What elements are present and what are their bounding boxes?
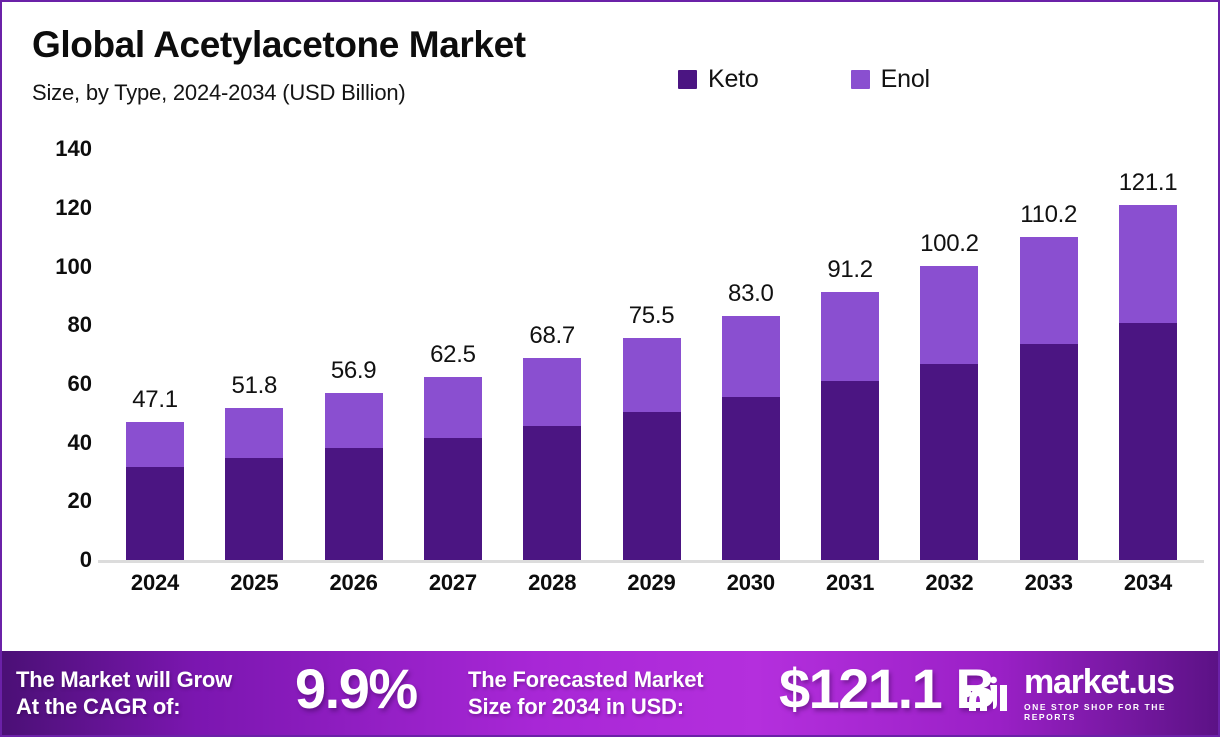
footer-banner: The Market will Grow At the CAGR of: 9.9… — [2, 651, 1218, 735]
bar-segment-enol[interactable] — [126, 422, 184, 467]
bar-segment-keto[interactable] — [722, 397, 780, 560]
page-title: Global Acetylacetone Market — [32, 24, 526, 66]
bar-segment-keto[interactable] — [325, 448, 383, 560]
bar-stack[interactable] — [1119, 205, 1177, 560]
brand-tagline: ONE STOP SHOP FOR THE REPORTS — [1024, 702, 1218, 722]
bar-segment-enol[interactable] — [722, 316, 780, 397]
bar-stack[interactable] — [424, 377, 482, 560]
x-axis-label-2029: 2029 — [623, 570, 681, 596]
bar-stack[interactable] — [722, 316, 780, 560]
x-axis-label-2028: 2028 — [523, 570, 581, 596]
bar-stack[interactable] — [325, 393, 383, 560]
forecast-caption-line1: The Forecasted Market — [468, 667, 703, 692]
bar-segment-keto[interactable] — [1020, 344, 1078, 560]
bar-stack[interactable] — [821, 292, 879, 560]
x-axis-label-2034: 2034 — [1119, 570, 1177, 596]
legend-item-keto[interactable]: Keto — [678, 65, 759, 94]
bar-stack[interactable] — [920, 266, 978, 560]
bar-segment-enol[interactable] — [225, 408, 283, 458]
bar-segment-enol[interactable] — [523, 358, 581, 426]
bar-segment-enol[interactable] — [920, 266, 978, 364]
y-axis-tick-140: 140 — [24, 136, 92, 162]
bar-value-label: 121.1 — [1119, 169, 1178, 197]
bar-value-label: 51.8 — [232, 372, 278, 400]
bar-stack[interactable] — [126, 422, 184, 560]
bar-stack[interactable] — [1020, 237, 1078, 560]
bar-segment-enol[interactable] — [1119, 205, 1177, 324]
bar-value-label: 91.2 — [827, 256, 873, 284]
bar-stack[interactable] — [523, 358, 581, 560]
y-axis-tick-20: 20 — [24, 488, 92, 514]
x-axis-label-2025: 2025 — [225, 570, 283, 596]
bar-value-label: 100.2 — [920, 230, 979, 258]
x-axis-label-2032: 2032 — [920, 570, 978, 596]
y-axis-tick-0: 0 — [24, 547, 92, 573]
cagr-caption-line2: At the CAGR of: — [16, 694, 180, 719]
legend-swatch-keto — [678, 70, 697, 89]
brand-text: market.us ONE STOP SHOP FOR THE REPORTS — [1024, 665, 1218, 722]
y-axis: 020406080100120140 — [20, 122, 92, 627]
bar-segment-keto[interactable] — [126, 467, 184, 560]
bar-value-label: 68.7 — [529, 322, 575, 350]
cagr-caption: The Market will Grow At the CAGR of: — [16, 666, 232, 720]
brand-name: market.us — [1024, 665, 1218, 699]
brand-logo[interactable]: market.us ONE STOP SHOP FOR THE REPORTS — [959, 665, 1218, 722]
bar-segment-enol[interactable] — [1020, 237, 1078, 345]
page-subtitle: Size, by Type, 2024-2034 (USD Billion) — [32, 80, 406, 106]
cagr-value: 9.9% — [295, 656, 417, 721]
legend-label-enol: Enol — [881, 65, 930, 94]
y-axis-tick-120: 120 — [24, 195, 92, 221]
bar-segment-keto[interactable] — [623, 412, 681, 560]
bar-segment-enol[interactable] — [821, 292, 879, 380]
bar-value-label: 83.0 — [728, 280, 774, 308]
bar-value-label: 56.9 — [331, 357, 377, 385]
bar-segment-keto[interactable] — [523, 426, 581, 560]
y-axis-tick-60: 60 — [24, 371, 92, 397]
forecast-caption-line2: Size for 2034 in USD: — [468, 694, 684, 719]
bar-segment-enol[interactable] — [424, 377, 482, 438]
y-axis-tick-80: 80 — [24, 312, 92, 338]
bar-value-label: 47.1 — [132, 386, 178, 414]
y-axis-tick-100: 100 — [24, 254, 92, 280]
bar-segment-keto[interactable] — [1119, 323, 1177, 560]
x-axis-label-2026: 2026 — [325, 570, 383, 596]
bar-stack[interactable] — [623, 338, 681, 560]
bar-segment-enol[interactable] — [623, 338, 681, 412]
bar-segment-keto[interactable] — [821, 381, 879, 560]
market-us-logo-icon — [959, 673, 1015, 715]
bar-value-label: 62.5 — [430, 341, 476, 369]
legend-item-enol[interactable]: Enol — [851, 65, 930, 94]
x-axis-label-2031: 2031 — [821, 570, 879, 596]
bar-segment-enol[interactable] — [325, 393, 383, 448]
y-axis-tick-40: 40 — [24, 430, 92, 456]
chart-legend: Keto Enol — [678, 64, 930, 94]
chart-infographic: Global Acetylacetone Market Size, by Typ… — [0, 0, 1220, 737]
x-axis-label-2033: 2033 — [1020, 570, 1078, 596]
bar-segment-keto[interactable] — [424, 438, 482, 560]
x-axis-label-2024: 2024 — [126, 570, 184, 596]
bar-group: 47.151.856.962.568.775.583.091.2100.2110… — [98, 122, 1204, 562]
bar-stack[interactable] — [225, 408, 283, 560]
bar-value-label: 75.5 — [629, 302, 675, 330]
cagr-caption-line1: The Market will Grow — [16, 667, 232, 692]
bar-value-label: 110.2 — [1020, 201, 1077, 229]
x-axis-label-2027: 2027 — [424, 570, 482, 596]
legend-swatch-enol — [851, 70, 870, 89]
chart-header: Global Acetylacetone Market Size, by Typ… — [2, 2, 1218, 122]
bar-segment-keto[interactable] — [920, 364, 978, 560]
bar-segment-keto[interactable] — [225, 458, 283, 560]
legend-label-keto: Keto — [708, 65, 759, 94]
x-axis-label-2030: 2030 — [722, 570, 780, 596]
chart-plot-area: 020406080100120140 47.151.856.962.568.77… — [2, 122, 1218, 627]
forecast-caption: The Forecasted Market Size for 2034 in U… — [468, 666, 703, 720]
